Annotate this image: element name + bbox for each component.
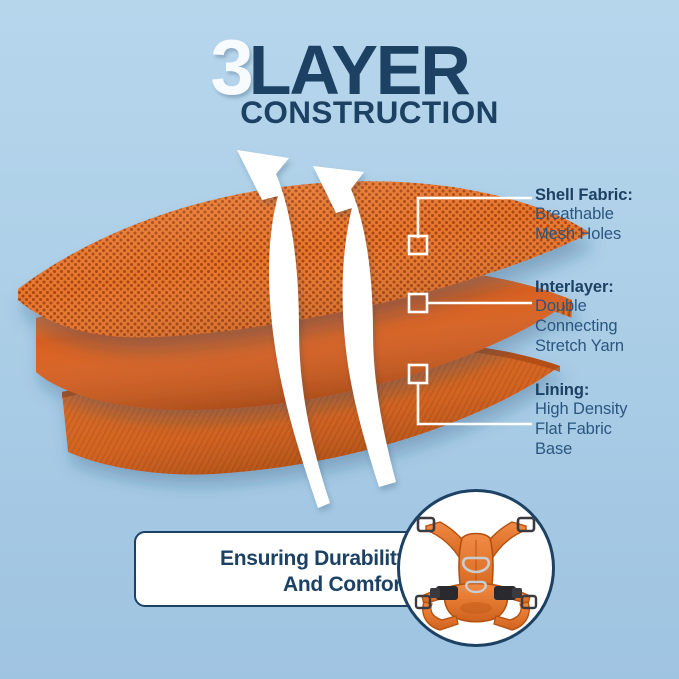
product-photo-circle <box>397 489 555 647</box>
callout-lining-line1: High Density <box>535 400 679 420</box>
callout-interlayer-line3: Stretch Yarn <box>535 337 679 357</box>
callout-lining-heading: Lining: <box>535 381 679 400</box>
callout-shell-line2: Mesh Holes <box>535 225 679 245</box>
callout-interlayer-line2: Connecting <box>535 317 679 337</box>
tagline-line-2: And Comfort <box>150 572 408 598</box>
tagline-banner: Ensuring Durability And Comfort <box>134 531 434 607</box>
tagline-text: Ensuring Durability And Comfort <box>150 546 408 599</box>
callout-shell-fabric: Shell Fabric: Breathable Mesh Holes <box>535 186 679 245</box>
tagline-line-1: Ensuring Durability <box>150 546 408 572</box>
callout-shell-line1: Breathable <box>535 205 679 225</box>
callout-lining-line2: Flat Fabric <box>535 420 679 440</box>
callout-interlayer: Interlayer: Double Connecting Stretch Ya… <box>535 278 679 357</box>
callout-lining: Lining: High Density Flat Fabric Base <box>535 381 679 460</box>
callout-lining-line3: Base <box>535 440 679 460</box>
dog-harness-illustration <box>400 492 552 644</box>
callout-interlayer-line1: Double <box>535 297 679 317</box>
buckle-right <box>494 586 522 600</box>
buckle-left <box>430 586 458 600</box>
callout-interlayer-heading: Interlayer: <box>535 278 679 297</box>
infographic-canvas: 3LAYER CONSTRUCTION Shell Fabric: Breath… <box>0 0 679 679</box>
callout-shell-heading: Shell Fabric: <box>535 186 679 205</box>
